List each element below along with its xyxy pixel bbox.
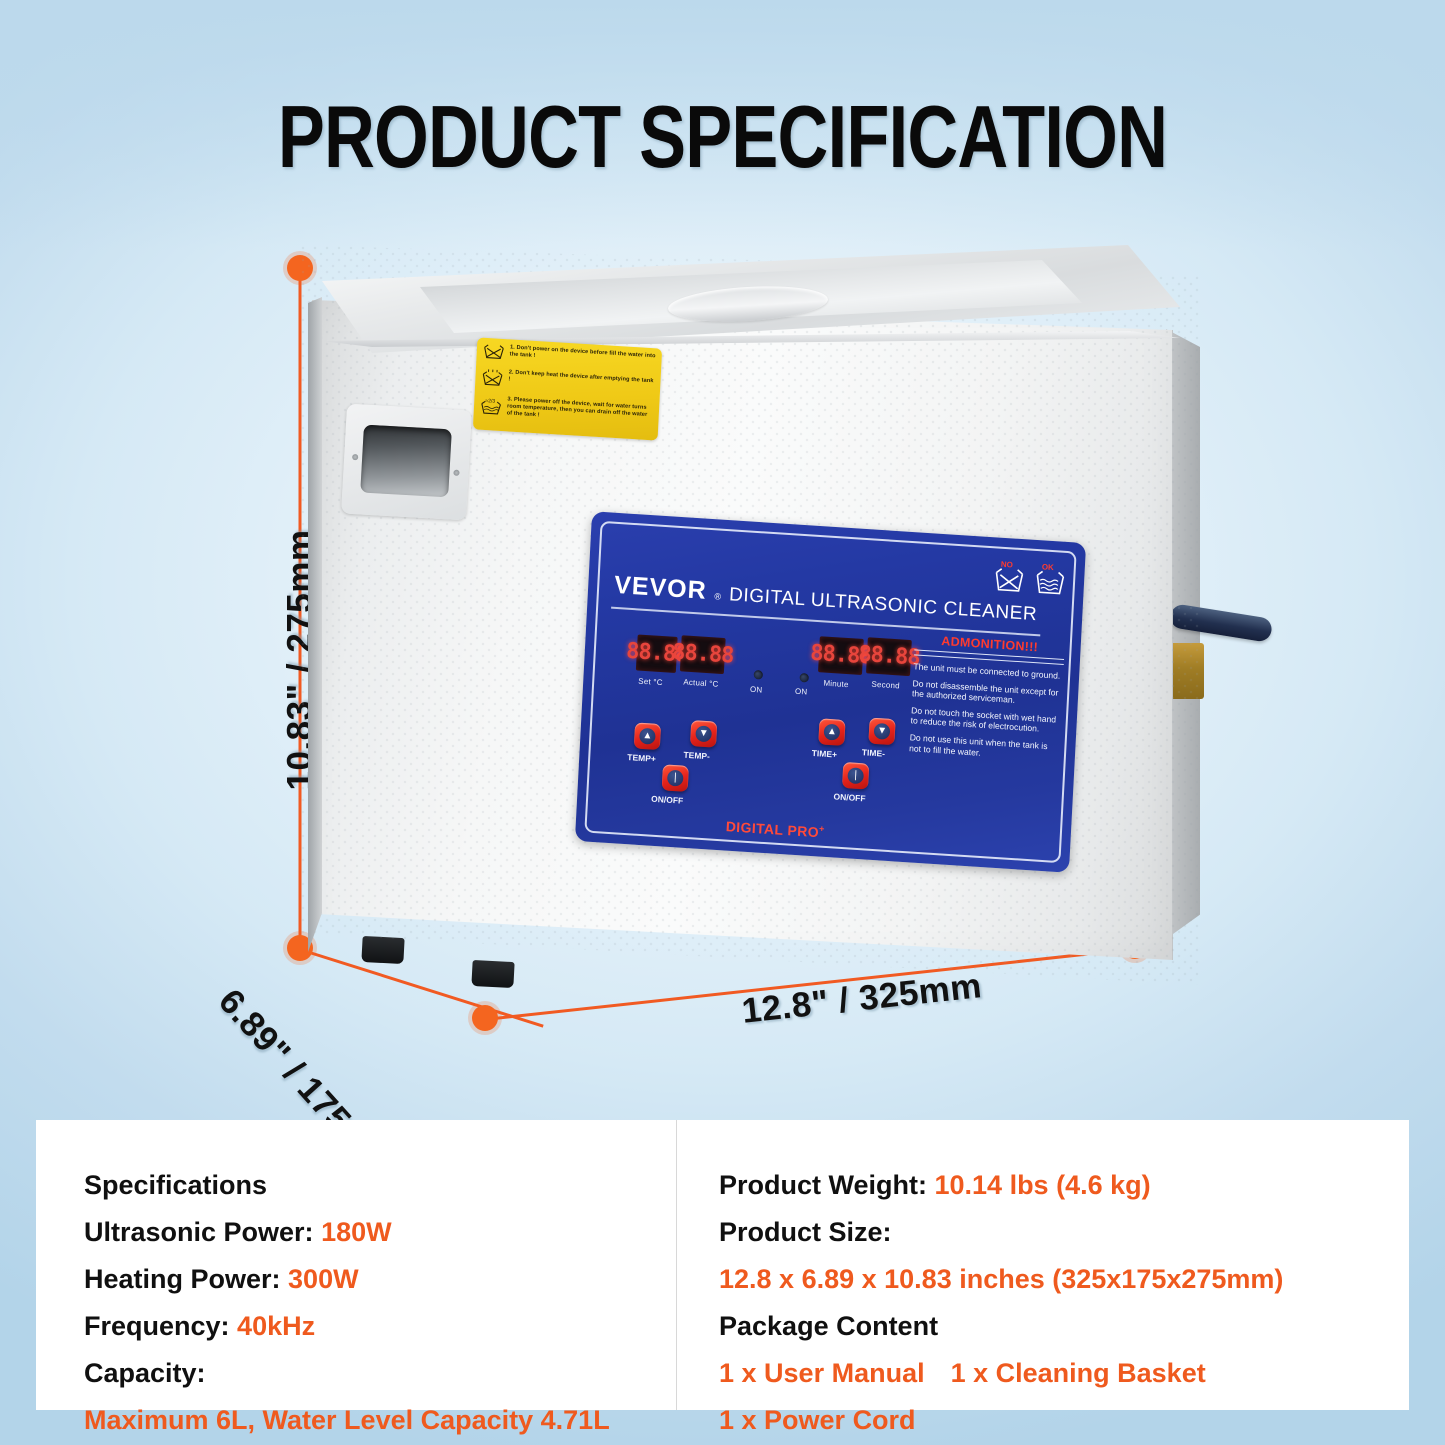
product-weight-value: 10.14 lbs (4.6 kg) bbox=[935, 1170, 1151, 1200]
drain-water-basket-icon: ≈2/3 bbox=[479, 395, 502, 421]
spec-row-frequency: Frequency: 40kHz bbox=[84, 1303, 676, 1350]
spec-row-heating-power: Heating Power: 300W bbox=[84, 1256, 676, 1303]
frequency-label: Frequency: bbox=[84, 1311, 237, 1341]
temp-on-label: ON bbox=[750, 685, 763, 695]
warning-text: 1. Don't power on the device before fill… bbox=[509, 344, 655, 367]
second-display: 88.88 bbox=[866, 637, 912, 676]
foot-back-left bbox=[471, 960, 514, 988]
registered-mark-icon: ® bbox=[714, 591, 721, 601]
handle-screw-right bbox=[453, 470, 459, 476]
specifications-column-left: Specifications Ultrasonic Power: 180W He… bbox=[36, 1120, 676, 1410]
control-panel: VEVOR ® DIGITAL ULTRASONIC CLEANER NO OK bbox=[575, 511, 1086, 872]
time-plus-label: TIME+ bbox=[812, 748, 838, 760]
heating-power-value: 300W bbox=[288, 1264, 359, 1294]
yellow-warning-label: 1. Don't power on the device before fill… bbox=[473, 337, 662, 440]
frequency-value: 40kHz bbox=[237, 1311, 315, 1341]
temp-minus-label: TEMP- bbox=[683, 750, 710, 762]
specifications-panel: Specifications Ultrasonic Power: 180W He… bbox=[36, 1120, 1409, 1410]
temp-onoff-button[interactable]: ❘ bbox=[662, 764, 689, 792]
temp-minus-button[interactable]: ▼ bbox=[690, 720, 717, 748]
package-items-row: 1 x User Manual 1 x Cleaning Basket bbox=[719, 1350, 1376, 1397]
temp-plus-label: TEMP+ bbox=[627, 752, 656, 764]
side-handle-recess bbox=[360, 425, 452, 498]
temp-plus-icon: ▲ bbox=[639, 728, 656, 745]
side-carry-handle[interactable] bbox=[341, 404, 472, 521]
time-onoff-label: ON/OFF bbox=[833, 791, 866, 803]
package-item: 1 x Power Cord bbox=[719, 1397, 1376, 1444]
admonition-paragraph: Do not disassemble the unit except for t… bbox=[912, 678, 1063, 709]
set-c-label: Set °C bbox=[638, 677, 663, 688]
no-power-basket-icon bbox=[482, 343, 505, 367]
capacity-value: Maximum 6L, Water Level Capacity 4.71L bbox=[84, 1397, 676, 1444]
no-heat-basket-icon bbox=[481, 368, 504, 394]
temp-minus-icon: ▼ bbox=[695, 725, 712, 742]
svg-text:≈2/3: ≈2/3 bbox=[485, 398, 495, 405]
admonition-paragraph: Do not touch the socket with wet hand to… bbox=[910, 705, 1061, 736]
time-minus-icon: ▼ bbox=[874, 723, 891, 740]
capacity-label: Capacity: bbox=[84, 1358, 206, 1388]
actual-temperature-display: 88.88 bbox=[680, 635, 726, 674]
time-onoff-button[interactable]: ❘ bbox=[842, 762, 869, 790]
specifications-column-right: Product Weight: 10.14 lbs (4.6 kg) Produ… bbox=[676, 1120, 1376, 1410]
ultrasonic-power-value: 180W bbox=[321, 1217, 392, 1247]
second-value: 88.88 bbox=[858, 644, 920, 670]
admonition-block: ADMONITION!!! The unit must be connected… bbox=[909, 632, 1065, 769]
admonition-paragraph: Do not use this unit when the tank is no… bbox=[909, 732, 1060, 763]
temp-onoff-label: ON/OFF bbox=[651, 794, 684, 806]
time-plus-button[interactable]: ▲ bbox=[818, 718, 845, 746]
cleaner-left-edge bbox=[308, 297, 322, 952]
time-minus-label: TIME- bbox=[862, 747, 886, 758]
minute-label: Minute bbox=[823, 679, 849, 690]
spec-row-capacity: Capacity: bbox=[84, 1350, 676, 1397]
temp-onoff-icon: ❘ bbox=[667, 770, 684, 787]
time-on-label: ON bbox=[795, 687, 808, 697]
product-size-value: 12.8 x 6.89 x 10.83 inches (325x175x275m… bbox=[719, 1256, 1376, 1303]
cleaner-lid[interactable] bbox=[300, 245, 1195, 363]
time-plus-icon: ▲ bbox=[823, 724, 840, 741]
product-illustration: 10.83" / 275mm 6.89" / 175mm 12.8" / 325… bbox=[0, 0, 1445, 1100]
time-minus-button[interactable]: ▼ bbox=[868, 718, 895, 746]
product-size-label: Product Size: bbox=[719, 1209, 1376, 1256]
vevor-logo: VEVOR bbox=[614, 571, 708, 606]
package-content-heading: Package Content bbox=[719, 1303, 1376, 1350]
package-item: 1 x User Manual bbox=[719, 1350, 925, 1397]
ok-basket-icon: OK bbox=[1033, 564, 1067, 596]
product-weight-label: Product Weight: bbox=[719, 1170, 935, 1200]
spec-row-product-weight: Product Weight: 10.14 lbs (4.6 kg) bbox=[719, 1162, 1376, 1209]
ultrasonic-cleaner-body: 1. Don't power on the device before fill… bbox=[300, 245, 1200, 985]
dimension-dot-front-left bbox=[472, 1005, 498, 1031]
handle-screw-left bbox=[352, 454, 358, 460]
no-basket-icon: NO bbox=[992, 561, 1026, 593]
package-item: 1 x Cleaning Basket bbox=[951, 1350, 1206, 1397]
heating-power-label: Heating Power: bbox=[84, 1264, 288, 1294]
spec-row-ultrasonic-power: Ultrasonic Power: 180W bbox=[84, 1209, 676, 1256]
time-onoff-icon: ❘ bbox=[847, 767, 864, 784]
digital-pro-sup: + bbox=[819, 824, 825, 834]
foot-front-left bbox=[361, 936, 404, 964]
second-label: Second bbox=[871, 680, 900, 691]
specifications-heading: Specifications bbox=[84, 1162, 676, 1209]
ultrasonic-power-label: Ultrasonic Power: bbox=[84, 1217, 321, 1247]
basket-icon-group: NO OK bbox=[992, 561, 1066, 596]
actual-temp-value: 88.88 bbox=[672, 642, 734, 668]
temp-plus-button[interactable]: ▲ bbox=[634, 722, 661, 750]
